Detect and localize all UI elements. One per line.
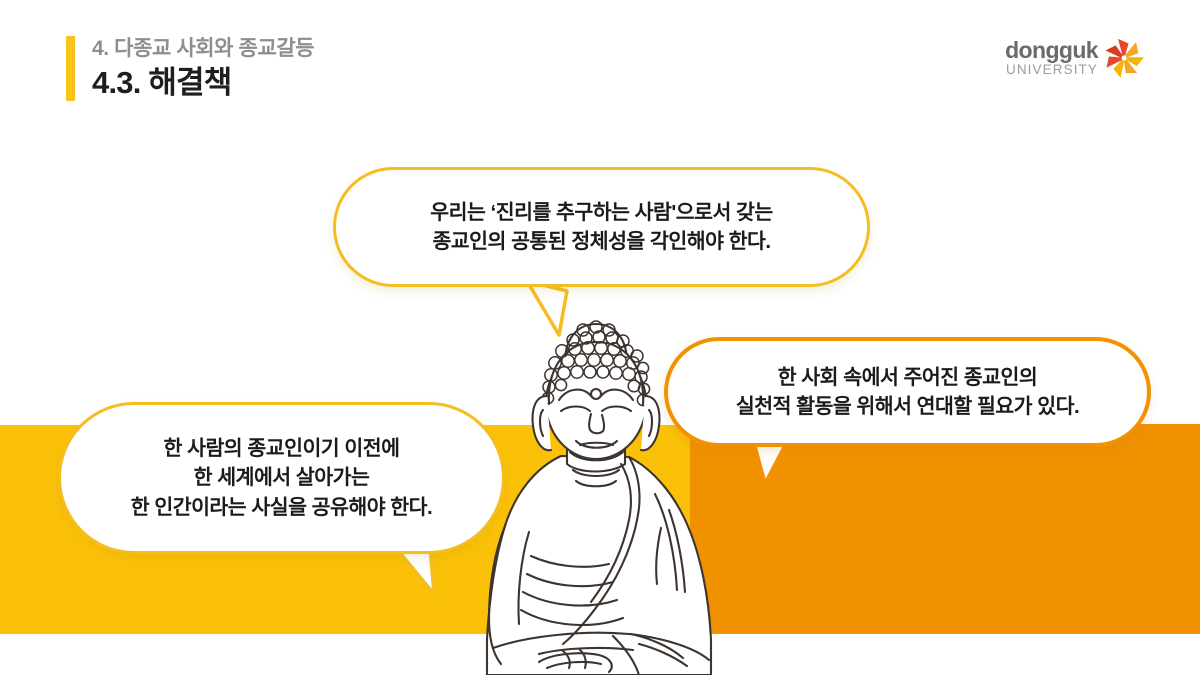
- logo-wordmark: dongguk UNIVERSITY: [1005, 39, 1098, 77]
- slide-canvas: 4. 다종교 사회와 종교갈등 4.3. 해결책 dongguk UNIVERS…: [0, 0, 1200, 675]
- speech-bubble-humanity-text: 한 사람의 종교인이기 이전에 한 세계에서 살아가는 한 인간이라는 사실을 …: [105, 434, 458, 521]
- header-text-group: 4. 다종교 사회와 종교갈등 4.3. 해결책: [92, 36, 314, 101]
- flower-pinwheel-icon: [1104, 38, 1144, 78]
- section-kicker: 4. 다종교 사회와 종교갈등: [92, 36, 314, 62]
- slide-header: 4. 다종교 사회와 종교갈등 4.3. 해결책: [66, 36, 314, 101]
- speech-bubble-humanity[interactable]: 한 사람의 종교인이기 이전에 한 세계에서 살아가는 한 인간이라는 사실을 …: [58, 402, 505, 554]
- speech-bubble-truth-text: 우리는 ‘진리를 추구하는 사람'으로서 갖는 종교인의 공통된 정체성을 각인…: [404, 198, 798, 256]
- logo-subtitle: UNIVERSITY: [1006, 63, 1098, 77]
- page-title: 4.3. 해결책: [92, 64, 314, 101]
- speech-bubble-truth[interactable]: 우리는 ‘진리를 추구하는 사람'으로서 갖는 종교인의 공통된 정체성을 각인…: [333, 167, 870, 287]
- header-accent-bar: [66, 36, 75, 101]
- bubble-tail-truth: [523, 279, 593, 341]
- speech-bubble-solidarity[interactable]: 한 사회 속에서 주어진 종교인의 실천적 활동을 위해서 연대할 필요가 있다…: [664, 337, 1151, 447]
- logo-name: dongguk: [1005, 39, 1098, 62]
- dongguk-university-logo: dongguk UNIVERSITY: [1005, 38, 1144, 78]
- speech-bubble-solidarity-text: 한 사회 속에서 주어진 종교인의 실천적 활동을 위해서 연대할 필요가 있다…: [710, 363, 1105, 421]
